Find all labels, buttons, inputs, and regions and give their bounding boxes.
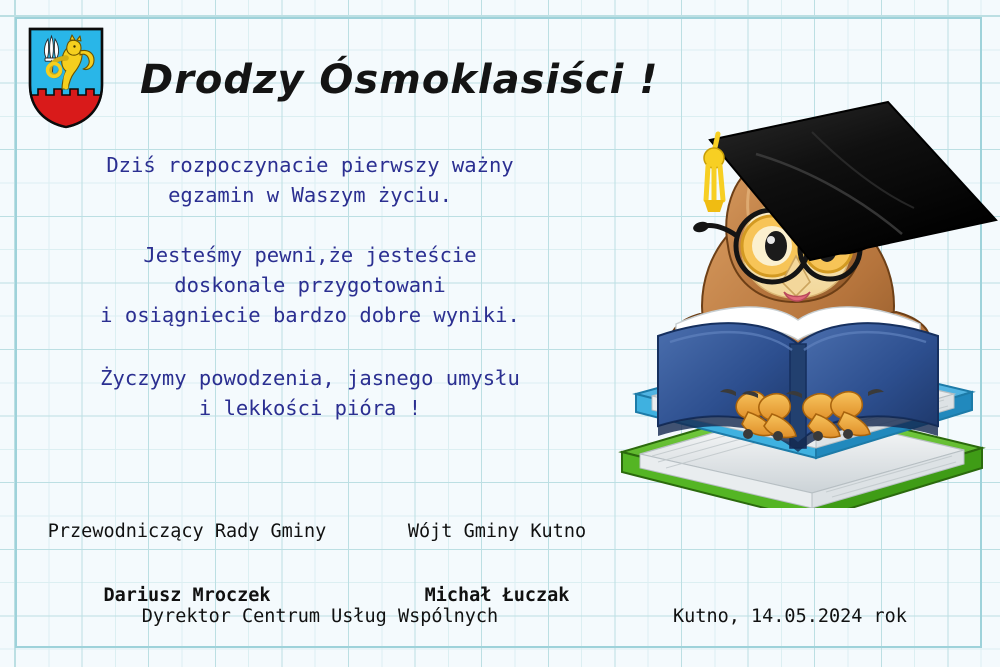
date-place-line: Kutno, 14.05.2024 rok [620,606,960,627]
signature-block-director: Dyrektor Centrum Usług Wspólnych Robert … [90,566,550,667]
signature-role: Dyrektor Centrum Usług Wspólnych [90,604,550,630]
signature-role: Przewodniczący Rady Gminy [22,519,352,545]
page-title: Drodzy Ósmoklasiści ! [140,57,659,103]
message-paragraph-2: Jesteśmy pewni,że jesteście doskonale pr… [0,240,620,330]
coat-of-arms-icon [28,27,104,129]
message-paragraph-1: Dziś rozpoczynacie pierwszy ważny egzami… [0,150,620,210]
poster-canvas: Drodzy Ósmoklasiści ! Dziś rozpoczynacie… [0,0,1000,667]
owl-illustration [596,96,1000,508]
signature-role: Wójt Gminy Kutno [372,519,622,545]
message-paragraph-3: Życzymy powodzenia, jasnego umysłu i lek… [0,363,620,423]
